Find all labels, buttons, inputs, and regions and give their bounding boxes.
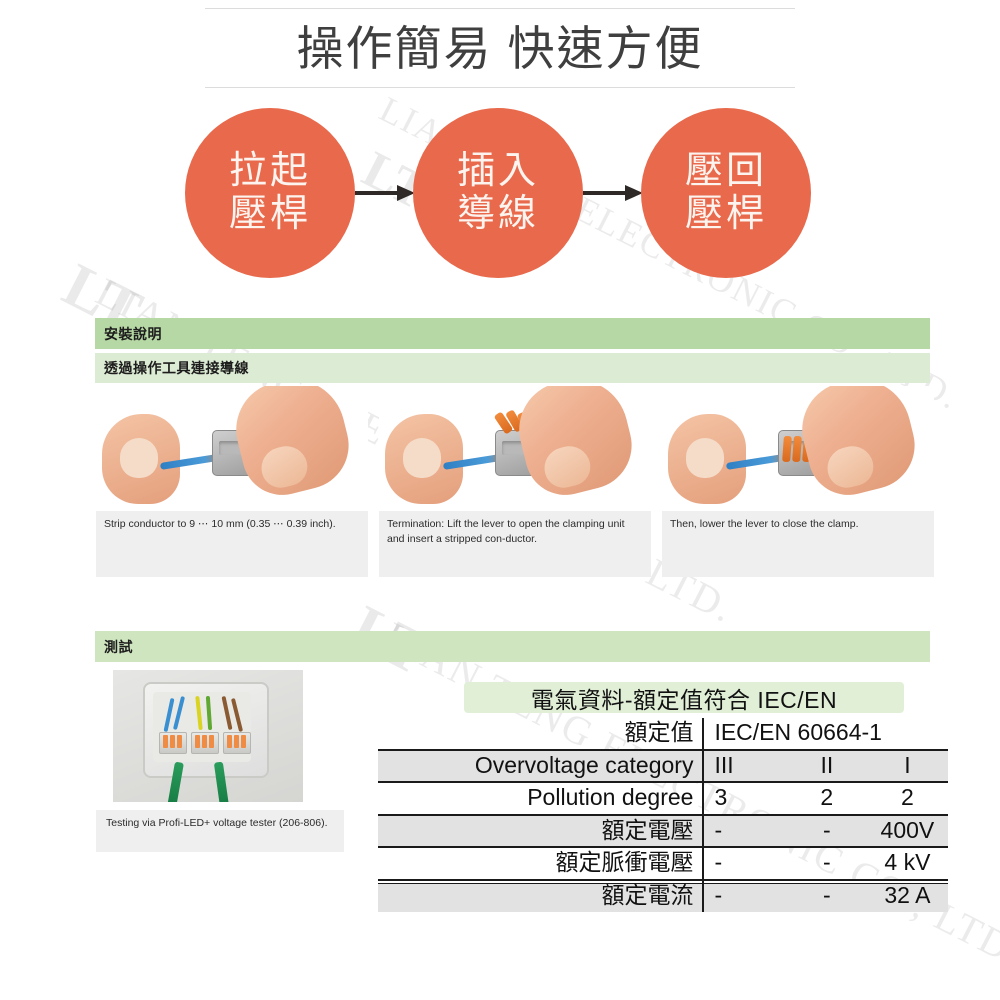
- spec-row-2-label: 額定電壓: [378, 815, 703, 848]
- install-photo-cell-1: Strip conductor to 9 ⋯ 10 mm (0.35 ⋯ 0.3…: [96, 386, 368, 584]
- spec-table-header-row: 額定值 IEC/EN 60664-1: [378, 718, 948, 750]
- spec-row-2-value-2: 400V: [867, 815, 948, 848]
- install-photo-caption-3: Then, lower the lever to close the clamp…: [662, 511, 934, 577]
- install-photo-cell-2: Termination: Lift the lever to open the …: [379, 386, 651, 584]
- junction-box-graphic: [143, 682, 269, 778]
- test-photo-caption: Testing via Profi-LED+ voltage tester (2…: [96, 810, 344, 852]
- spec-table-title: 電氣資料-額定值符合 IEC/EN: [464, 682, 904, 713]
- spec-row-3-value-2: 4 kV: [867, 847, 948, 880]
- step-circle-1: 拉起 壓桿: [185, 108, 355, 278]
- test-section-heading-label: 測試: [104, 637, 133, 657]
- step-flow: 拉起 壓桿 插入 導線 壓回 壓桿: [0, 108, 1000, 278]
- spec-row-4-value-0: -: [703, 880, 786, 912]
- step-3-line2: 壓桿: [685, 193, 767, 236]
- spec-table: 額定值 IEC/EN 60664-1 Overvoltage category …: [378, 718, 948, 912]
- spec-row-4-value-1: -: [787, 880, 867, 912]
- spec-table-title-text: 電氣資料-額定值符合 IEC/EN: [531, 681, 837, 715]
- product-sheet-page: LT LIAN TENG ELECTRONIC CO., LTD. LT LIA…: [0, 0, 1000, 1000]
- spec-row-0-value-0: III: [703, 750, 786, 783]
- spec-row-3-value-1: -: [787, 847, 867, 880]
- spec-row-4-value-2: 32 A: [867, 880, 948, 912]
- table-row: Overvoltage category III II I: [378, 750, 948, 783]
- spec-row-3-label: 額定脈衝電壓: [378, 847, 703, 880]
- step-circle-3: 壓回 壓桿: [641, 108, 811, 278]
- page-title-text: 操作簡易 快速方便: [296, 25, 703, 72]
- install-photo-caption-2: Termination: Lift the lever to open the …: [379, 511, 651, 577]
- table-row: 額定脈衝電壓 - - 4 kV: [378, 847, 948, 880]
- step-2-line1: 插入: [457, 150, 539, 193]
- install-photo-cell-3: Then, lower the lever to close the clamp…: [662, 386, 934, 584]
- spec-row-0-value-2: I: [867, 750, 948, 783]
- spec-row-0-value-1: II: [787, 750, 867, 783]
- spec-row-1-value-2: 2: [867, 782, 948, 815]
- spec-row-4-label: 額定電流: [378, 880, 703, 912]
- spec-row-1-label: Pollution degree: [378, 782, 703, 815]
- step-circle-2: 插入 導線: [413, 108, 583, 278]
- test-photo: [113, 670, 303, 802]
- install-photo-2: [379, 386, 651, 511]
- spec-row-2-value-1: -: [787, 815, 867, 848]
- test-section-heading: 測試: [95, 631, 930, 662]
- step-1-line1: 拉起: [229, 150, 311, 193]
- arrow-right-icon: [355, 185, 417, 201]
- spec-row-1-value-0: 3: [703, 782, 786, 815]
- step-2-line2: 導線: [457, 193, 539, 236]
- install-photo-1: [96, 386, 368, 511]
- spec-header-standard: IEC/EN 60664-1: [703, 718, 948, 750]
- install-section-heading: 安裝說明: [95, 318, 930, 349]
- page-title: 操作簡易 快速方便: [205, 8, 795, 88]
- spec-row-0-label: Overvoltage category: [378, 750, 703, 783]
- table-row: Pollution degree 3 2 2: [378, 782, 948, 815]
- install-photo-caption-1: Strip conductor to 9 ⋯ 10 mm (0.35 ⋯ 0.3…: [96, 511, 368, 577]
- install-section-subheading-label: 透過操作工具連接導線: [104, 358, 249, 378]
- spec-header-label: 額定值: [378, 718, 703, 750]
- spec-row-2-value-0: -: [703, 815, 786, 848]
- install-section-subheading: 透過操作工具連接導線: [95, 353, 930, 383]
- table-row: 額定電壓 - - 400V: [378, 815, 948, 848]
- install-photo-row: Strip conductor to 9 ⋯ 10 mm (0.35 ⋯ 0.3…: [96, 386, 934, 584]
- arrow-right-icon: [583, 185, 645, 201]
- install-section-heading-label: 安裝說明: [104, 324, 162, 344]
- table-row: 額定電流 - - 32 A: [378, 880, 948, 912]
- spec-row-1-value-1: 2: [787, 782, 867, 815]
- step-1-line2: 壓桿: [229, 193, 311, 236]
- spec-row-3-value-0: -: [703, 847, 786, 880]
- step-3-line1: 壓回: [685, 150, 767, 193]
- install-photo-3: [662, 386, 934, 511]
